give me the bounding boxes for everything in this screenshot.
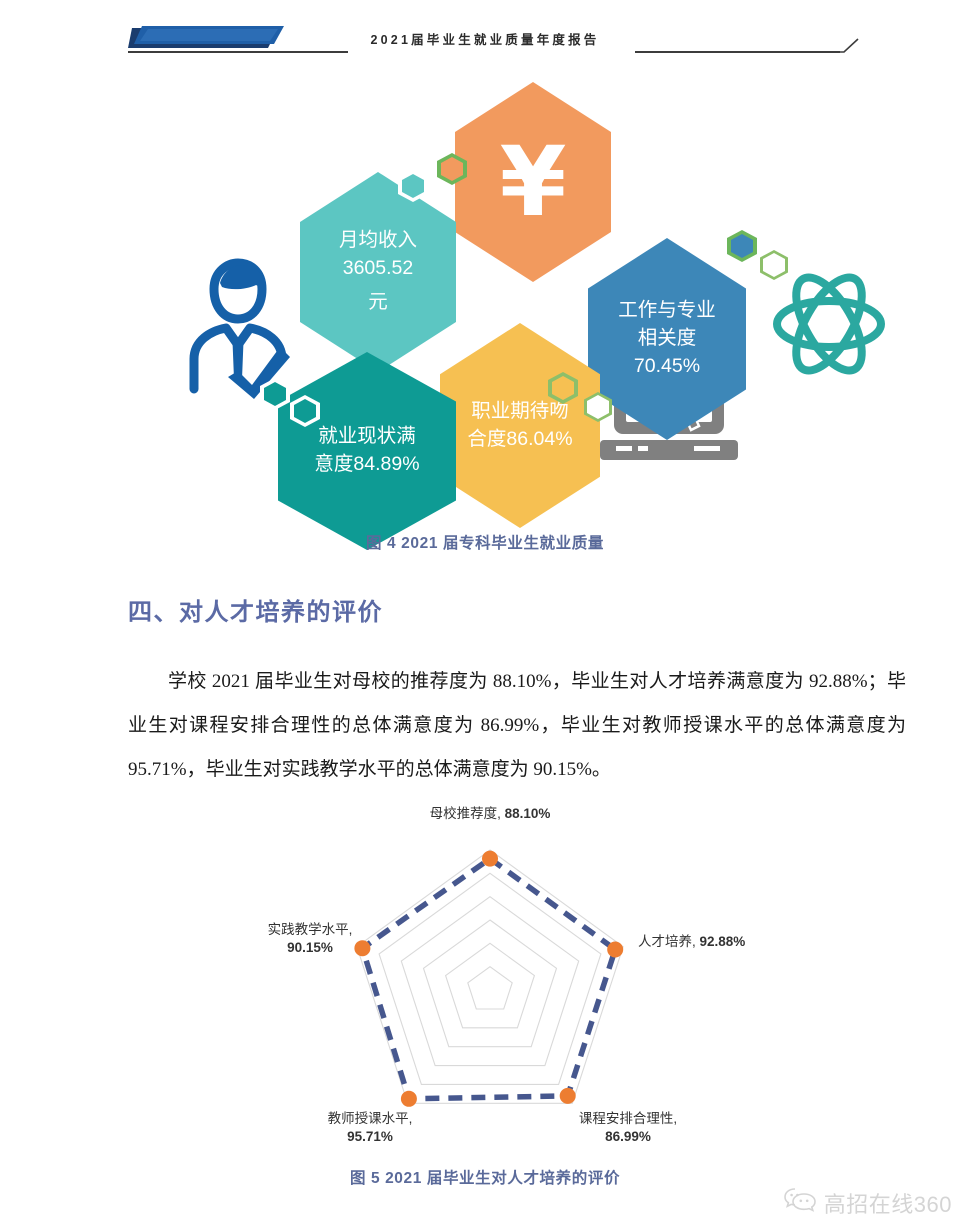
atom-molecule-icon: [770, 265, 888, 388]
hexagon-career-expectation-match: 职业期待吻 合度86.04%: [440, 323, 600, 528]
hex-income-line1: 月均收入: [339, 227, 417, 255]
header-rule-left: [128, 51, 348, 53]
radar-label-course-arrangement: 课程安排合理性, 86.99%: [548, 1110, 708, 1146]
radar-gridlines: [357, 850, 623, 1103]
hexagon-monthly-income: 月均收入 3605.52 元: [300, 172, 456, 372]
radar-data-markers: [354, 851, 623, 1107]
decorative-hexagon-icon: [727, 230, 757, 262]
hex-relevance-line1: 工作与专业: [618, 297, 716, 325]
watermark: 高招在线360: [783, 1186, 952, 1219]
section-paragraph: 学校 2021 届毕业生对母校的推荐度为 88.10%，毕业生对人才培养满意度为…: [128, 660, 906, 792]
radar-label-alma-mater-recommendation: 母校推荐度, 88.10%: [395, 805, 585, 823]
hex-income-line3: 元: [339, 289, 417, 317]
hex-income-line2: 3605.52: [339, 255, 417, 283]
radar-label-talent-training: 人才培养, 92.88%: [638, 933, 818, 951]
hex-expect-line2: 合度86.04%: [467, 426, 572, 454]
employment-quality-infographic: ¥ 月均收入 3605.52 元 工作与专业 相关度 70.45% 职业期待吻 …: [0, 70, 970, 510]
radar-label-practical-teaching: 实践教学水平, 90.15%: [235, 921, 385, 957]
figure-4-caption: 图 4 2021 届专科毕业生就业质量: [0, 531, 970, 553]
header-right-decoration: [800, 38, 860, 54]
radar-series-polygon: [362, 859, 615, 1099]
figure-5-caption: 图 5 2021 届毕业生对人才培养的评价: [0, 1166, 970, 1188]
radar-label-teaching-level: 教师授课水平, 95.71%: [290, 1110, 450, 1146]
hexagon-employment-satisfaction: 就业现状满 意度84.89%: [278, 352, 456, 550]
section-heading: 四、对人才培养的评价: [128, 592, 383, 627]
hex-satisfy-line1: 就业现状满: [314, 423, 419, 451]
talent-training-radar-chart: 母校推荐度, 88.10% 人才培养, 92.88% 课程安排合理性, 86.9…: [240, 795, 740, 1165]
wechat-bubble-icon: [783, 1186, 817, 1219]
yuan-currency-icon: ¥: [500, 134, 567, 230]
hex-expect-line1: 职业期待吻: [467, 398, 572, 426]
hex-relevance-line3: 70.45%: [618, 353, 716, 381]
watermark-text: 高招在线360: [824, 1187, 952, 1219]
page-header: 2021届毕业生就业质量年度报告: [0, 22, 970, 64]
hex-relevance-line2: 相关度: [618, 325, 716, 353]
hex-satisfy-line2: 意度84.89%: [314, 451, 419, 479]
hexagon-monthly-income-icon: ¥: [455, 82, 611, 282]
